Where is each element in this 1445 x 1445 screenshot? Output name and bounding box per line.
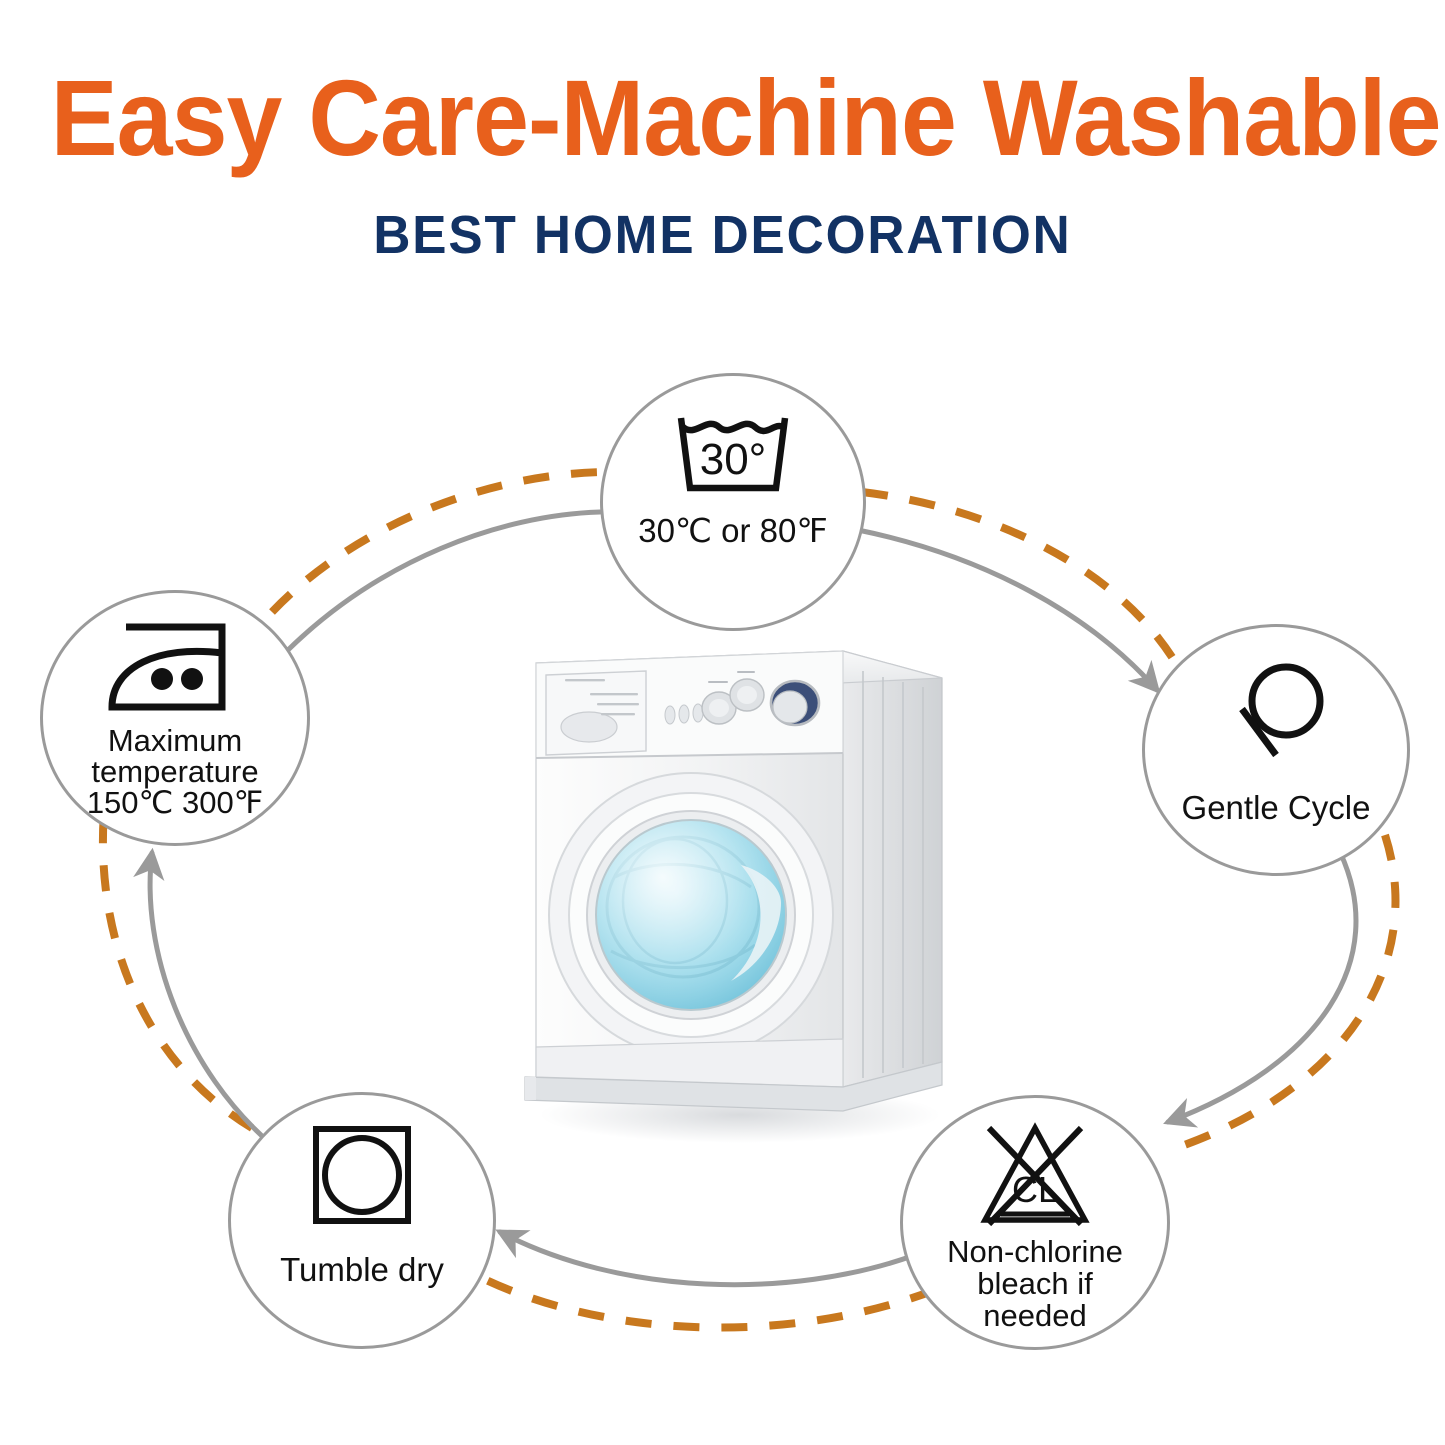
caption-line: Non-chlorine	[947, 1236, 1123, 1268]
wash-temp-value: 30°	[700, 435, 767, 484]
care-node-tumble-caption: Tumble dry	[280, 1253, 444, 1286]
care-node-gentle-caption: Gentle Cycle	[1182, 791, 1371, 824]
non-chlorine-bleach-icon: CL	[973, 1120, 1097, 1232]
care-node-gentle[interactable]: Gentle Cycle	[1142, 624, 1410, 876]
care-node-iron[interactable]: Maximum temperature 150℃ 300℉	[40, 590, 310, 846]
care-node-wash-caption: 30℃ or 80℉	[638, 514, 828, 547]
care-node-bleach[interactable]: CL Non-chlorine bleach if needed	[900, 1095, 1170, 1350]
care-node-tumble[interactable]: Tumble dry	[228, 1092, 496, 1349]
caption-line: needed	[947, 1300, 1123, 1332]
iron-two-dots-icon	[100, 615, 250, 719]
care-node-bleach-caption: Non-chlorine bleach if needed	[947, 1236, 1123, 1332]
care-instruction-infographic: Easy Care-Machine Washable BEST HOME DEC…	[0, 0, 1445, 1445]
washing-machine-image	[505, 615, 975, 1145]
tumble-dry-icon	[306, 1123, 418, 1227]
caption-line: 150℃ 300℉	[87, 787, 263, 818]
care-node-iron-caption: Maximum temperature 150℃ 300℉	[87, 725, 263, 818]
caption-line: temperature	[87, 756, 263, 787]
caption-line: Maximum	[87, 725, 263, 756]
caption-line: bleach if	[947, 1268, 1123, 1300]
wash-tub-30-icon: 30°	[673, 408, 793, 500]
gentle-cycle-icon	[1220, 657, 1332, 769]
care-node-wash[interactable]: 30° 30℃ or 80℉	[600, 373, 866, 631]
